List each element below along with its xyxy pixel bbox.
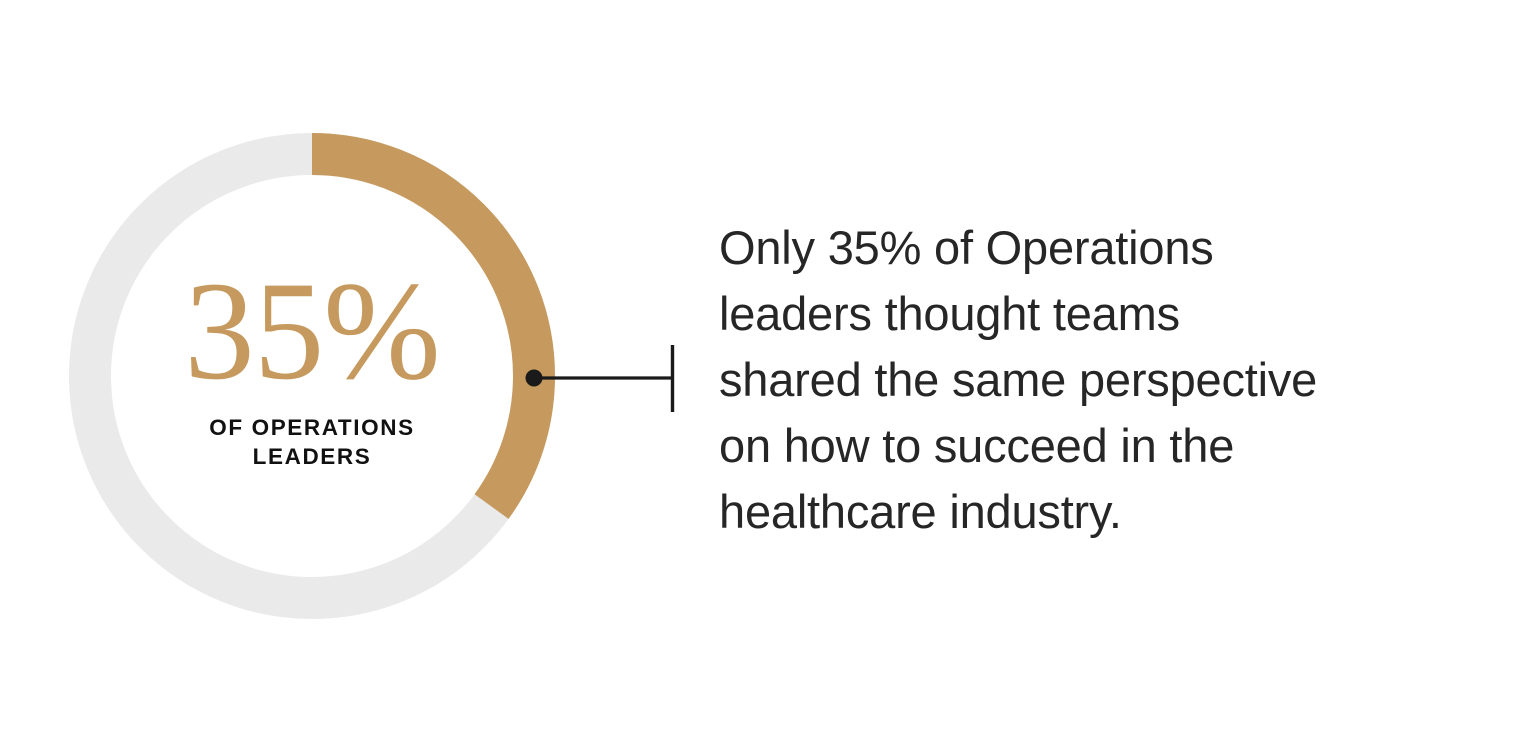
donut-chart-svg [69,133,555,619]
callout-line: leaders thought teams [719,281,1479,347]
callout-connector-svg [520,336,695,426]
callout-connector [520,336,695,426]
infographic-canvas: 35% OF OPERATIONS LEADERS Only 35% of Op… [0,0,1513,756]
callout-line: on how to succeed in the [719,413,1479,479]
callout-line: healthcare industry. [719,479,1479,545]
callout-line: Only 35% of Operations [719,215,1479,281]
callout-text-block: Only 35% of Operations leaders thought t… [719,215,1479,545]
donut-chart: 35% OF OPERATIONS LEADERS [69,133,555,619]
callout-line: shared the same perspective [719,347,1479,413]
